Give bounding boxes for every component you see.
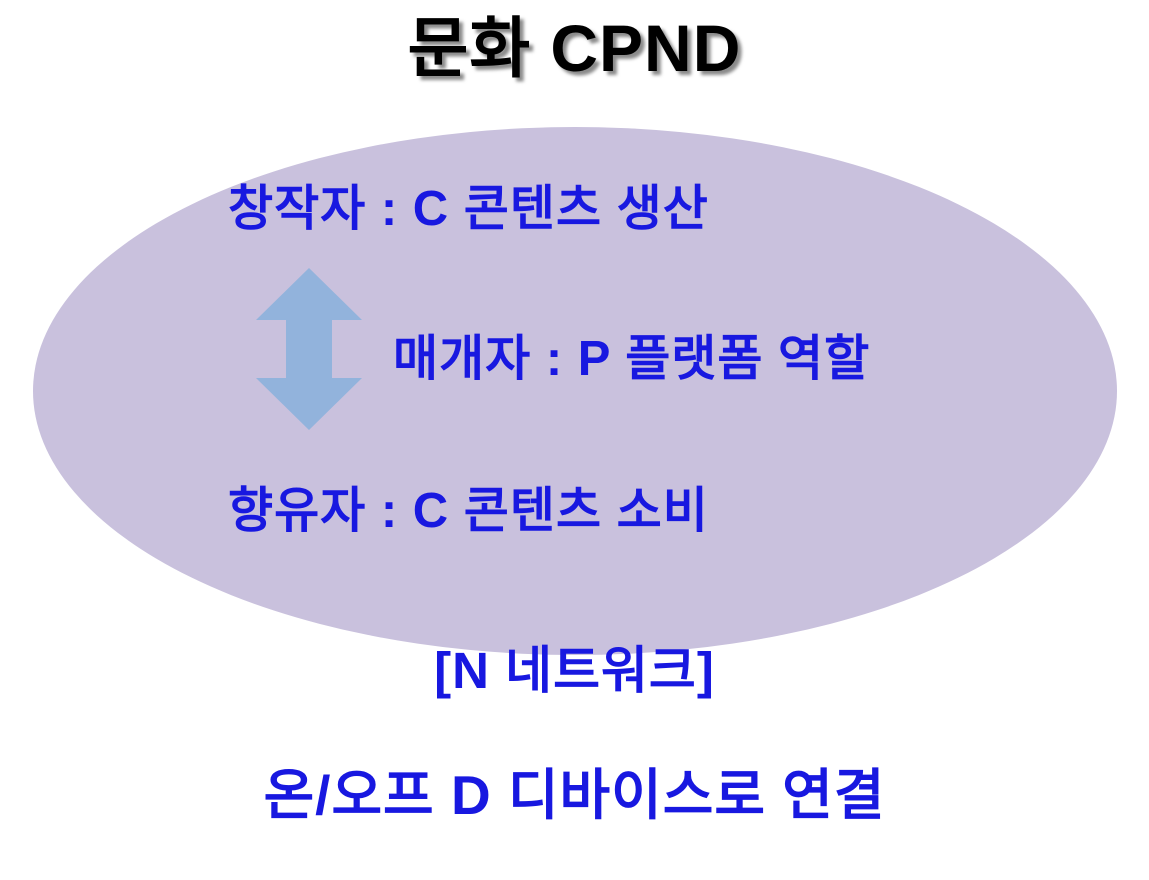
double-arrow-up-down-icon bbox=[256, 268, 362, 430]
creator-role-text: 창작자 : C 콘텐츠 생산 bbox=[228, 185, 709, 234]
device-label-text: 온/오프 D 디바이스로 연결 bbox=[0, 768, 1149, 823]
page-title: 문화 CPND bbox=[0, 2, 1149, 94]
mediator-role-text: 매개자 : P 플랫폼 역할 bbox=[393, 335, 870, 384]
slide-canvas: 문화 CPND 창작자 : C 콘텐츠 생산 매개자 : P 플랫폼 역할 향유… bbox=[0, 0, 1149, 880]
consumer-role-text: 향유자 : C 콘텐츠 소비 bbox=[228, 487, 709, 536]
network-label-text: [N 네트워크] bbox=[0, 645, 1149, 696]
